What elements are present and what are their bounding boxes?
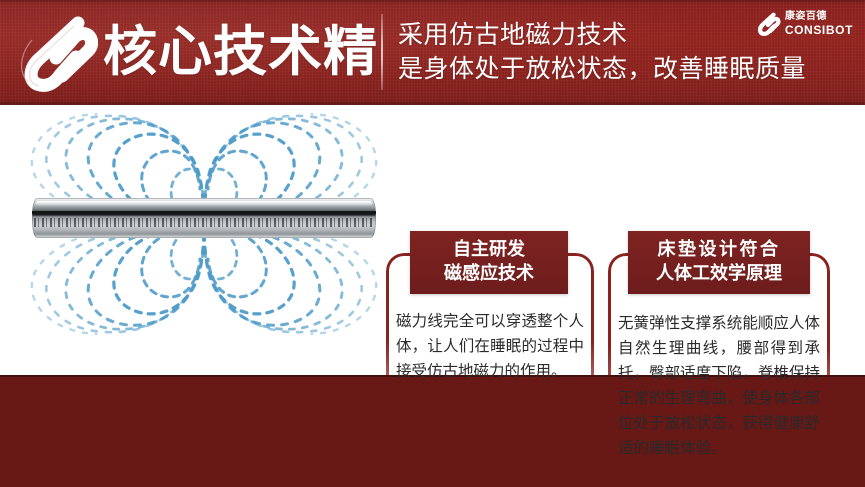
bar-magnet-highlight <box>36 201 372 206</box>
brand-name-en: CONSIBOT <box>785 24 853 36</box>
page-title: 核心技术精 <box>103 9 378 95</box>
brand-name-cn: 康姿百德 <box>785 12 853 22</box>
card-title-badge: 床垫设计符合 人体工效学原理 <box>628 231 810 294</box>
card-title-line-1: 床垫设计符合 <box>638 238 800 262</box>
header-subtitle: 采用仿古地磁力技术 是身体处于放松状态，改善睡眠质量 <box>398 18 806 86</box>
title-divider <box>381 14 383 90</box>
card-title-badge: 自主研发 磁感应技术 <box>410 231 568 294</box>
consibot-magnet-logo-icon <box>755 11 781 37</box>
subtitle-line-2: 是身体处于放松状态，改善睡眠质量 <box>398 52 806 86</box>
bar-magnet-stripe <box>32 211 376 214</box>
bar-magnet <box>32 198 376 238</box>
header-top-shadow <box>0 0 865 4</box>
subtitle-line-1: 采用仿古地磁力技术 <box>398 18 806 52</box>
bar-magnet-pattern <box>34 218 374 227</box>
card-body-text: 无簧弹性支撑系统能顺应人体自然生理曲线，腰部得到承托，臀部适度下陷，脊椎保持正常… <box>618 311 820 461</box>
brand-text: 康姿百德 CONSIBOT <box>785 12 853 36</box>
brand-logo: 康姿百德 CONSIBOT <box>755 11 853 37</box>
card-title-line-1: 自主研发 <box>420 238 558 262</box>
header-banner: 核心技术精 采用仿古地磁力技术 是身体处于放松状态，改善睡眠质量 康姿百德 CO… <box>0 0 865 105</box>
content-area: 自主研发 磁感应技术 磁力线完全可以穿透整个人体，让人们在睡眠的过程中接受仿古地… <box>0 105 865 375</box>
card-title-line-2: 磁感应技术 <box>420 262 558 286</box>
card-body-text: 磁力线完全可以穿透整个人体，让人们在睡眠的过程中接受仿古地磁力的作用。 <box>396 309 584 384</box>
card-title-line-2: 人体工效学原理 <box>638 262 800 286</box>
magnet-u-icon <box>16 14 98 94</box>
